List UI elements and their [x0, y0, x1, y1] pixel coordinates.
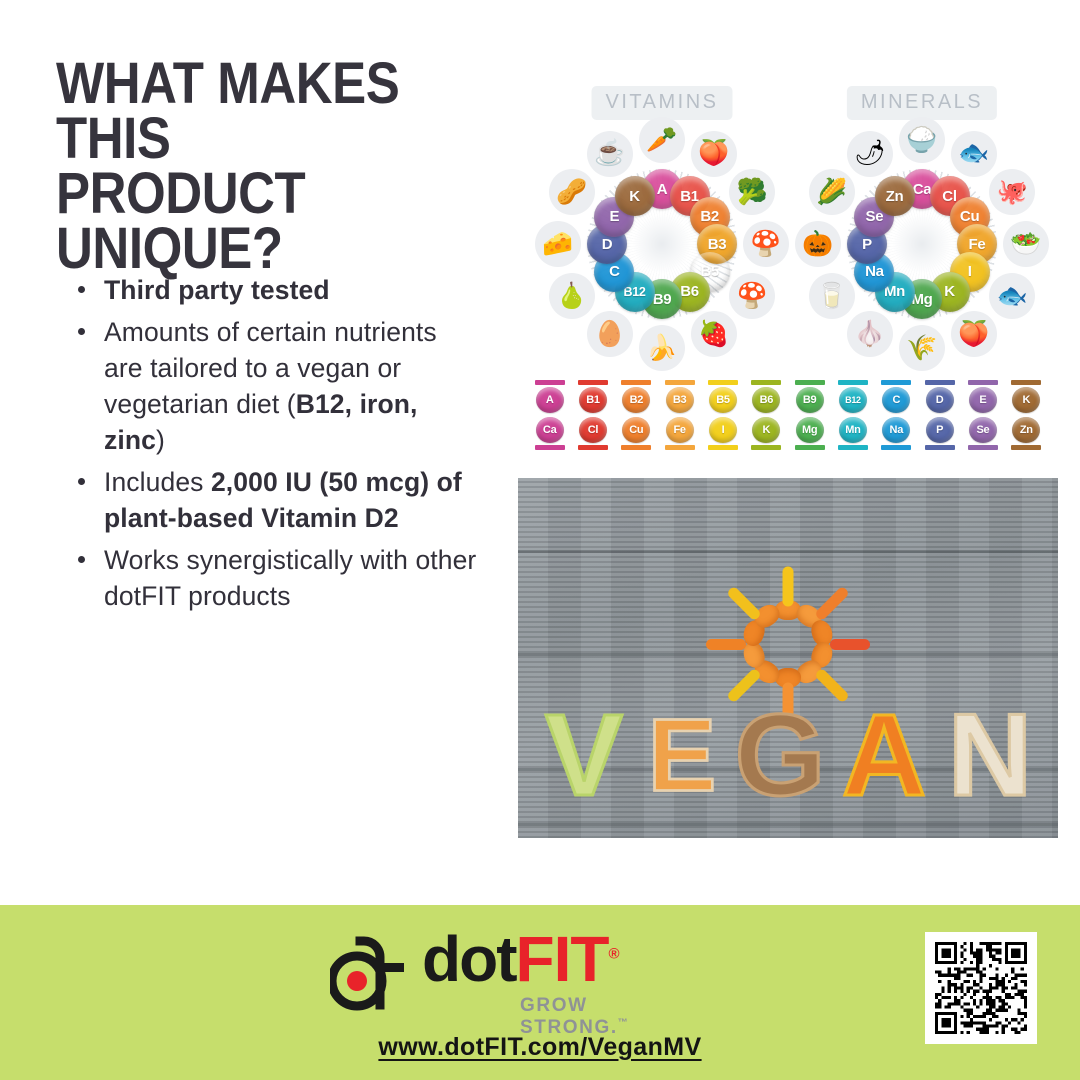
svg-text:N: N: [948, 693, 1032, 818]
strip-column-b5: B5I: [701, 380, 744, 450]
food-icon-garlic-grain: 🧄: [847, 311, 893, 357]
vitamins-wheel-block: VITAMINS AB1B2B3B5B6B9B12CDEK🥕🍑🥦🍄🍄🍓🍌🥚🍐🧀🥜…: [532, 78, 792, 378]
strip-badge-mineral-cl: Cl: [579, 417, 607, 443]
food-icon-octopus-nut: 🐙: [989, 169, 1035, 215]
sun-ray-veggie-icon: [814, 585, 850, 621]
food-icon-egg-milk: 🥚: [587, 311, 633, 357]
food-icon-spinach-egg: 🥗: [1003, 221, 1049, 267]
strip-bar-top: [795, 380, 825, 385]
strip-badge-mineral-se: Se: [969, 417, 997, 443]
food-icon-peach-coffee: 🍑: [951, 311, 997, 357]
strip-badge-vitamin-b3: B3: [666, 387, 694, 413]
strip-bar-top: [535, 380, 565, 385]
strip-column-a: ACa: [528, 380, 571, 450]
food-icon-beet-mushroom: 🍄: [729, 273, 775, 319]
strip-bar-bottom: [1011, 445, 1041, 450]
sun-ray-veggie-icon: [830, 639, 870, 650]
strip-badge-mineral-k: K: [752, 417, 780, 443]
strip-bar-bottom: [665, 445, 695, 450]
strip-bar-bottom: [795, 445, 825, 450]
food-icon-banana-onion: 🍌: [639, 325, 685, 371]
strip-bar-top: [578, 380, 608, 385]
food-icon-milk-pasta: 🥛: [809, 273, 855, 319]
strip-bar-bottom: [708, 445, 738, 450]
food-icon-tea-cup: ☕: [587, 131, 633, 177]
page-title: WHAT MAKES THIS PRODUCT UNIQUE?: [56, 56, 461, 276]
strip-badge-vitamin-k: K: [1012, 387, 1040, 413]
vegan-letter-g-nuts: G: [728, 693, 832, 818]
food-icon-almond-strawberry: 🍓: [691, 311, 737, 357]
qr-code-icon[interactable]: [935, 942, 1027, 1034]
food-icon-pumpkin: 🎃: [795, 221, 841, 267]
strip-badge-vitamin-a: A: [536, 387, 564, 413]
bullet-synergistic: Works synergistically with other dotFIT …: [62, 542, 482, 614]
qr-code-card[interactable]: [925, 932, 1037, 1044]
dotfit-wordmark: dotFIT®: [422, 927, 618, 991]
food-icon-peas-peanut: 🥜: [549, 169, 595, 215]
strip-column-b1: B1Cl: [571, 380, 614, 450]
bullet-tailored-nutrients: Amounts of certain nutrients are tailore…: [62, 314, 482, 458]
strip-bar-top: [708, 380, 738, 385]
strip-column-c: CNa: [875, 380, 918, 450]
strip-bar-top: [881, 380, 911, 385]
strip-badge-mineral-mn: Mn: [839, 417, 867, 443]
strip-badge-mineral-mg: Mg: [796, 417, 824, 443]
nutrient-badge-k: K: [615, 176, 655, 216]
strip-badge-mineral-cu: Cu: [622, 417, 650, 443]
vegan-letter-a-carrot: A: [832, 693, 936, 818]
strip-bar-top: [665, 380, 695, 385]
nutrient-wheels: VITAMINS AB1B2B3B5B6B9B12CDEK🥕🍑🥦🍄🍄🍓🍌🥚🍐🧀🥜…: [520, 78, 1060, 378]
svg-text:E: E: [648, 697, 717, 812]
strip-column-b6: B6K: [745, 380, 788, 450]
strip-badge-mineral-i: I: [709, 417, 737, 443]
strip-bar-bottom: [881, 445, 911, 450]
minerals-wheel-block: MINERALS CaClCuFeIKMgMnNaPSeZn🍚🐟🐙🥗🐟🍑🌾🧄🥛🎃…: [792, 78, 1052, 378]
strip-badge-mineral-fe: Fe: [666, 417, 694, 443]
logo-fit-text: FIT: [516, 923, 609, 995]
trademark-mark: ™: [618, 1018, 630, 1029]
strip-badge-mineral-p: P: [926, 417, 954, 443]
strip-bar-bottom: [578, 445, 608, 450]
minerals-wheel: CaClCuFeIKMgMnNaPSeZn🍚🐟🐙🥗🐟🍑🌾🧄🥛🎃🌽🌶: [792, 116, 1052, 371]
strip-bar-top: [838, 380, 868, 385]
vegan-word-motif: VEGAN: [532, 693, 1044, 818]
registered-mark: ®: [608, 946, 617, 963]
logo-dot-text: dot: [422, 923, 516, 995]
strip-badge-vitamin-e: E: [969, 387, 997, 413]
vegan-photo: VEGAN: [518, 478, 1058, 838]
strip-column-b9: B9Mg: [788, 380, 831, 450]
strip-bar-top: [925, 380, 955, 385]
strip-badge-vitamin-b2: B2: [622, 387, 650, 413]
strip-badge-vitamin-b9: B9: [796, 387, 824, 413]
strip-bar-bottom: [925, 445, 955, 450]
strip-badge-mineral-na: Na: [882, 417, 910, 443]
food-icon-mushroom: 🍄: [743, 221, 789, 267]
wheel-core-icon: [893, 215, 951, 273]
website-url[interactable]: www.dotFIT.com/VeganMV: [0, 1033, 1080, 1062]
strip-badge-vitamin-c: C: [882, 387, 910, 413]
strip-column-b2: B2Cu: [615, 380, 658, 450]
food-icon-cheese-fish: 🧀: [535, 221, 581, 267]
food-icon-carrot-orange: 🥕: [639, 117, 685, 163]
food-icon-pear-berries: 🍐: [549, 273, 595, 319]
left-content-column: WHAT MAKES THIS PRODUCT UNIQUE? Third pa…: [0, 0, 520, 905]
food-icon-peach-nut: 🍑: [691, 131, 737, 177]
strip-badge-vitamin-b5: B5: [709, 387, 737, 413]
wheel-core-icon: [633, 215, 691, 273]
strip-column-e: ESe: [961, 380, 1004, 450]
strip-column-d: DP: [918, 380, 961, 450]
poster: WHAT MAKES THIS PRODUCT UNIQUE? Third pa…: [0, 0, 1080, 1080]
strip-badge-vitamin-b6: B6: [752, 387, 780, 413]
svg-text:V: V: [545, 693, 623, 818]
headline-line-1: WHAT MAKES THIS: [56, 51, 399, 171]
strip-bar-bottom: [968, 445, 998, 450]
strip-badge-mineral-ca: Ca: [536, 417, 564, 443]
food-icon-fish-egg: 🐟: [951, 131, 997, 177]
strip-column-b12: B12Mn: [831, 380, 874, 450]
strip-bar-bottom: [838, 445, 868, 450]
feature-bullet-list: Third party testedAmounts of certain nut…: [62, 272, 482, 620]
food-icon-corn-pistachio: 🌽: [809, 169, 855, 215]
nutrient-badge-strip: ACaB1ClB2CuB3FeB5IB6KB9MgB12MnCNaDPESeKZ…: [528, 380, 1048, 450]
food-icon-pepper-pasta: 🌶: [847, 131, 893, 177]
strip-bar-top: [1011, 380, 1041, 385]
dotfit-logo: dotFIT® GROW STRONG.™: [330, 927, 690, 1027]
sun-ray-veggie-icon: [706, 639, 746, 650]
strip-badge-vitamin-b12: B12: [839, 387, 867, 413]
food-icon-rice-bowl: 🍚: [899, 117, 945, 163]
strip-bar-top: [968, 380, 998, 385]
strip-bar-bottom: [535, 445, 565, 450]
strip-badge-vitamin-d: D: [926, 387, 954, 413]
strip-column-k: KZn: [1005, 380, 1048, 450]
bullet-vitamin-d2: Includes 2,000 IU (50 mcg) of plant-base…: [62, 464, 482, 536]
strip-badge-vitamin-b1: B1: [579, 387, 607, 413]
strip-bar-bottom: [751, 445, 781, 450]
strip-bar-bottom: [621, 445, 651, 450]
sun-ray-veggie-icon: [726, 585, 762, 621]
food-icon-broccoli-egg: 🥦: [729, 169, 775, 215]
vegan-letter-v-celery: V: [532, 693, 636, 818]
tagline-text: GROW STRONG.: [520, 995, 618, 1038]
food-icon-fish-mushroom: 🐟: [989, 273, 1035, 319]
nutrient-badge-zn: Zn: [875, 176, 915, 216]
sun-ray-veggie-icon: [783, 567, 794, 607]
svg-text:G: G: [735, 693, 826, 818]
footer-band: dotFIT® GROW STRONG.™ www.dotFIT.com/Veg…: [0, 905, 1080, 1080]
strip-bar-top: [621, 380, 651, 385]
strip-bar-top: [751, 380, 781, 385]
vegan-letter-e-apple-orange: E: [636, 693, 728, 818]
dotfit-mark-icon: [330, 931, 408, 1011]
food-icon-wheat-almond: 🌾: [899, 325, 945, 371]
svg-text:A: A: [842, 693, 926, 818]
headline-line-2: PRODUCT UNIQUE?: [56, 166, 461, 276]
vegan-letter-n-beans: N: [936, 693, 1044, 818]
bullet-third-party-tested: Third party tested: [62, 272, 482, 308]
strip-column-b3: B3Fe: [658, 380, 701, 450]
vitamins-label: VITAMINS: [592, 86, 733, 120]
vitamins-wheel: AB1B2B3B5B6B9B12CDEK🥕🍑🥦🍄🍄🍓🍌🥚🍐🧀🥜☕: [532, 116, 792, 371]
minerals-label: MINERALS: [847, 86, 997, 120]
strip-badge-mineral-zn: Zn: [1012, 417, 1040, 443]
